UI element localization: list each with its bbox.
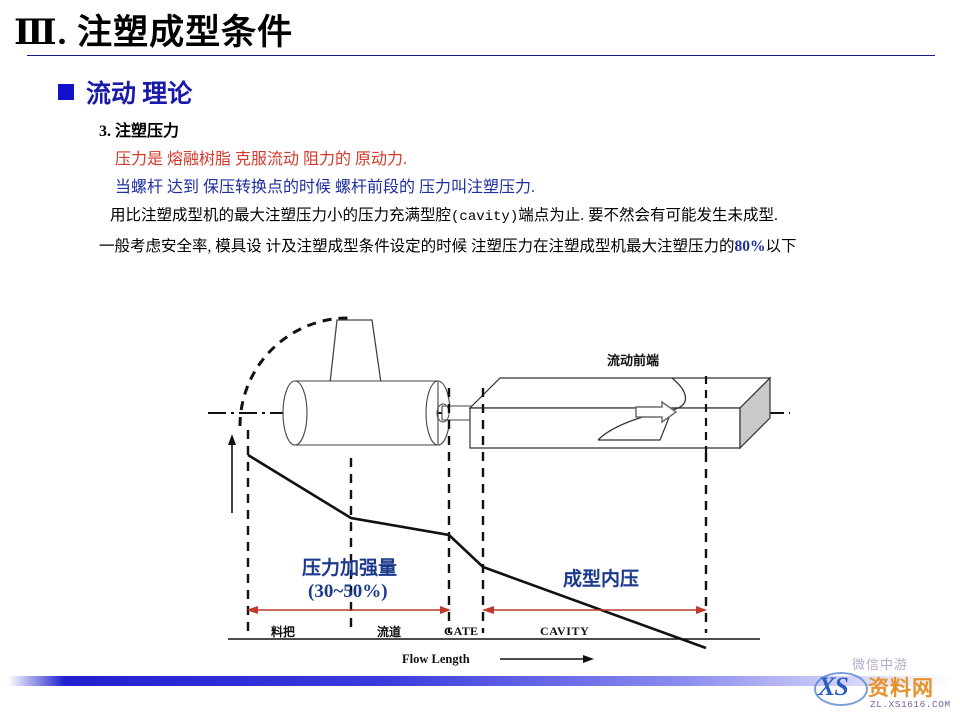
watermark-xs-logo-text: XS [818,672,848,702]
annotation-pressure-boost: 压力加强量 [302,553,397,580]
footer-gradient-bar [8,676,952,686]
zone-label-runner: 流道 [377,623,401,640]
barrel-body [295,381,438,445]
watermark-logo: XS 微信中游 资料网 ZL.XS1616.COM [812,652,960,720]
body-text-line-4-percent: 80% [735,238,766,255]
nozzle-shape [442,406,472,420]
body-text-line-1: 压力是 熔融树脂 克服流动 阻力的 原动力. [115,145,407,169]
barrel-left-cap [283,381,307,445]
body-text-line-4: 一般考虑安全率, 模具设 计及注塑成型条件设定的时候 注塑压力在注塑成型机最大注… [99,234,797,256]
mold-front-face [470,408,740,448]
mold-top-face [470,378,770,408]
flow-length-arrowhead [583,655,594,663]
watermark-top-text: 微信中游 [852,654,908,673]
body-text-line-4-part-b: 以下 [766,238,797,255]
body-text-line-3-part-b: 端点为止. 要不然会有可能发生未成型. [518,207,778,224]
body-text-line-3-part-a: 用比注塑成型机的最大注塑压力小的压力充满型腔 [110,207,451,224]
section-heading: 流动 理论 [58,74,192,110]
annotation-pressure-boost-range: (30~50%) [308,581,388,603]
zone-label-gate: GATE [444,624,478,639]
flow-front-label: 流动前端 [607,350,659,369]
dimension-arrow-right-cavity [696,606,707,614]
zone-label-cavity: CAVITY [540,624,589,639]
annotation-cavity-pressure: 成型内压 [563,564,639,591]
presentation-slide: Ⅲ. 注塑成型条件 流动 理论 3. 注塑压力 压力是 熔融树脂 克服流动 阻力… [0,0,960,720]
filled-square-icon [58,84,74,100]
injection-pressure-curve [248,455,706,648]
x-axis-label: Flow Length [402,652,470,667]
body-text-line-3-cavity: (cavity) [451,209,518,225]
section-heading-label: 流动 理论 [86,74,192,110]
diagram-svg [0,288,960,678]
page-title: Ⅲ. 注塑成型条件 [14,4,293,55]
watermark-main-text: 资料网 [868,672,934,702]
injection-pressure-diagram: 流动前端 Injection Pressure 压力加强量 (30~50%) 成… [0,288,960,678]
watermark-url-text: ZL.XS1616.COM [870,699,951,710]
body-text-line-2: 当螺杆 达到 保压转换点的时候 螺杆前段的 压力叫注塑压力. [115,173,535,197]
zone-label-sprue: 料把 [271,623,295,640]
body-subheading: 3. 注塑压力 [99,117,179,141]
body-text-line-3: 用比注塑成型机的最大注塑压力小的压力充满型腔(cavity)端点为止. 要不然会… [110,203,778,225]
title-divider [27,55,935,56]
hopper-shape [330,320,381,383]
body-text-line-4-part-a: 一般考虑安全率, 模具设 计及注塑成型条件设定的时候 注塑压力在注塑成型机最大注… [99,238,735,255]
y-axis-arrowhead [228,434,236,445]
